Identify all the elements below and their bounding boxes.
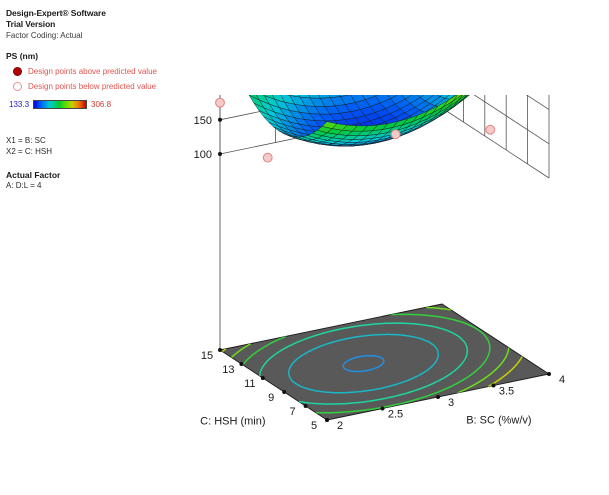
legend-below-label: Design points below predicted value <box>28 82 156 91</box>
filled-circle-icon <box>6 67 28 76</box>
axis-tick-label: 3.5 <box>499 386 514 398</box>
axis-tick-label: 4 <box>559 374 565 386</box>
surface-plot[interactable]: 100150200250300350PS (nm)151311975C: HSH… <box>160 95 609 495</box>
software-edition: Trial Version <box>6 19 196 30</box>
axis-tick-label: 2.5 <box>388 409 403 421</box>
axis-tick-label: 150 <box>194 115 212 127</box>
axis-tick-label: 100 <box>194 149 212 161</box>
scale-min-value: 133.3 <box>9 100 29 109</box>
x-axis-title: C: HSH (min) <box>200 416 265 428</box>
factor-coding-label: Factor Coding: Actual <box>6 30 196 41</box>
color-scale-bar-icon <box>33 100 87 109</box>
scale-max-value: 306.8 <box>91 100 111 109</box>
axis-tick-label: 11 <box>244 378 255 390</box>
open-circle-icon <box>6 82 28 91</box>
design-point-below <box>391 130 400 139</box>
design-point-below <box>216 98 225 107</box>
axis-tick-label: 7 <box>290 406 296 418</box>
axis-tick-label: 2 <box>337 420 343 432</box>
axis-tick-label: 3 <box>448 397 454 409</box>
response-title: PS (nm) <box>6 51 196 61</box>
axis-tick-label: 15 <box>201 350 213 362</box>
response-surface-mesh <box>220 95 549 146</box>
legend-item-below: Design points below predicted value <box>6 82 196 91</box>
software-name: Design-Expert® Software <box>6 8 196 19</box>
plot-canvas[interactable]: 100150200250300350PS (nm)151311975C: HSH… <box>160 95 609 495</box>
design-point-below <box>486 125 495 134</box>
axis-tick-label: 9 <box>268 392 274 404</box>
axis-tick-label: 13 <box>222 364 234 376</box>
legend-item-above: Design points above predicted value <box>6 67 196 76</box>
y-axis-title: B: SC (%w/v) <box>466 414 531 426</box>
legend-above-label: Design points above predicted value <box>28 67 157 76</box>
axis-tick-label: 5 <box>311 420 317 432</box>
design-point-below <box>263 153 272 162</box>
